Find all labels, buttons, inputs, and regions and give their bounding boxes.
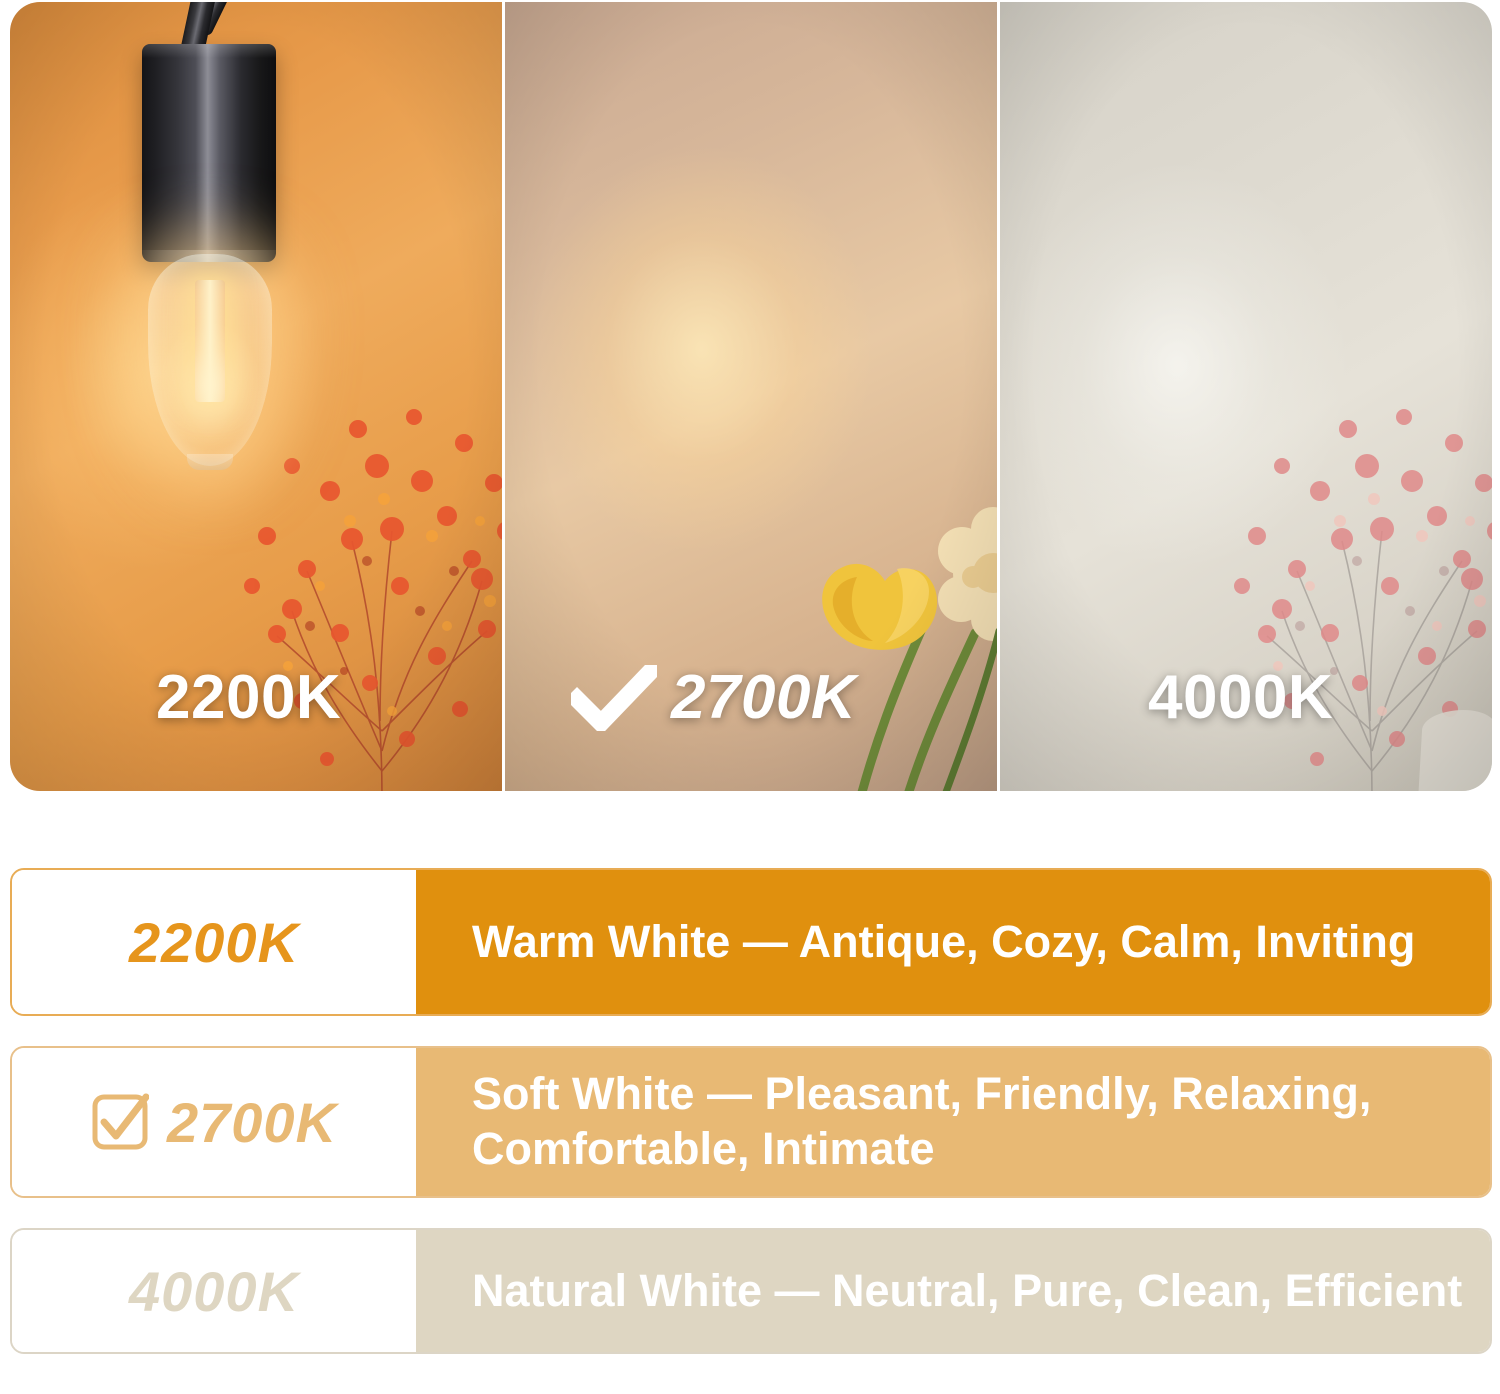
photo-label-2200k: 2200K xyxy=(156,662,341,733)
lightbulb-icon xyxy=(148,254,272,466)
kelvin-cell: 4000K xyxy=(12,1230,416,1352)
kelvin-cell: 2200K xyxy=(12,870,416,1014)
tulip-flowers-decoration xyxy=(707,481,997,791)
description-text: Warm White — Antique, Cozy, Calm, Inviti… xyxy=(472,915,1415,970)
color-temperature-comparison-infographic: 2200K xyxy=(0,0,1500,1394)
checkbox-checked-icon[interactable] xyxy=(91,1093,149,1151)
photo-panel-4000k[interactable]: 4000K xyxy=(1000,2,1492,791)
photo-panel-2700k[interactable]: 2700K xyxy=(505,2,997,791)
photo-comparison-strip: 2200K xyxy=(10,2,1492,791)
checkmark-icon xyxy=(571,665,657,731)
kelvin-value: 2700K xyxy=(167,1090,337,1155)
description-cell: Soft White — Pleasant, Friendly, Relaxin… xyxy=(416,1048,1490,1196)
photo-label-2700k: 2700K xyxy=(571,662,856,733)
kelvin-cell: 2700K xyxy=(12,1048,416,1196)
photo-label-4000k: 4000K xyxy=(1148,662,1333,733)
table-row-2200k[interactable]: 2200K Warm White — Antique, Cozy, Calm, … xyxy=(10,868,1492,1016)
lamp-socket xyxy=(142,44,276,262)
description-cell: Natural White — Neutral, Pure, Clean, Ef… xyxy=(416,1230,1490,1352)
description-text: Soft White — Pleasant, Friendly, Relaxin… xyxy=(472,1067,1490,1177)
table-row-4000k[interactable]: 4000K Natural White — Neutral, Pure, Cle… xyxy=(10,1228,1492,1354)
kelvin-value: 2200K xyxy=(129,910,299,975)
bulb-tip xyxy=(187,454,233,470)
description-cell: Warm White — Antique, Cozy, Calm, Inviti… xyxy=(416,870,1490,1014)
photo-panel-2200k[interactable]: 2200K xyxy=(10,2,502,791)
table-row-2700k[interactable]: 2700K Soft White — Pleasant, Friendly, R… xyxy=(10,1046,1492,1198)
kelvin-value: 4000K xyxy=(129,1259,299,1324)
filament xyxy=(195,280,225,402)
photo-label-text: 2200K xyxy=(156,662,341,733)
photo-label-text: 2700K xyxy=(671,662,856,733)
color-temperature-table: 2200K Warm White — Antique, Cozy, Calm, … xyxy=(10,868,1492,1354)
photo-label-text: 4000K xyxy=(1148,662,1333,733)
description-text: Natural White — Neutral, Pure, Clean, Ef… xyxy=(472,1264,1462,1319)
